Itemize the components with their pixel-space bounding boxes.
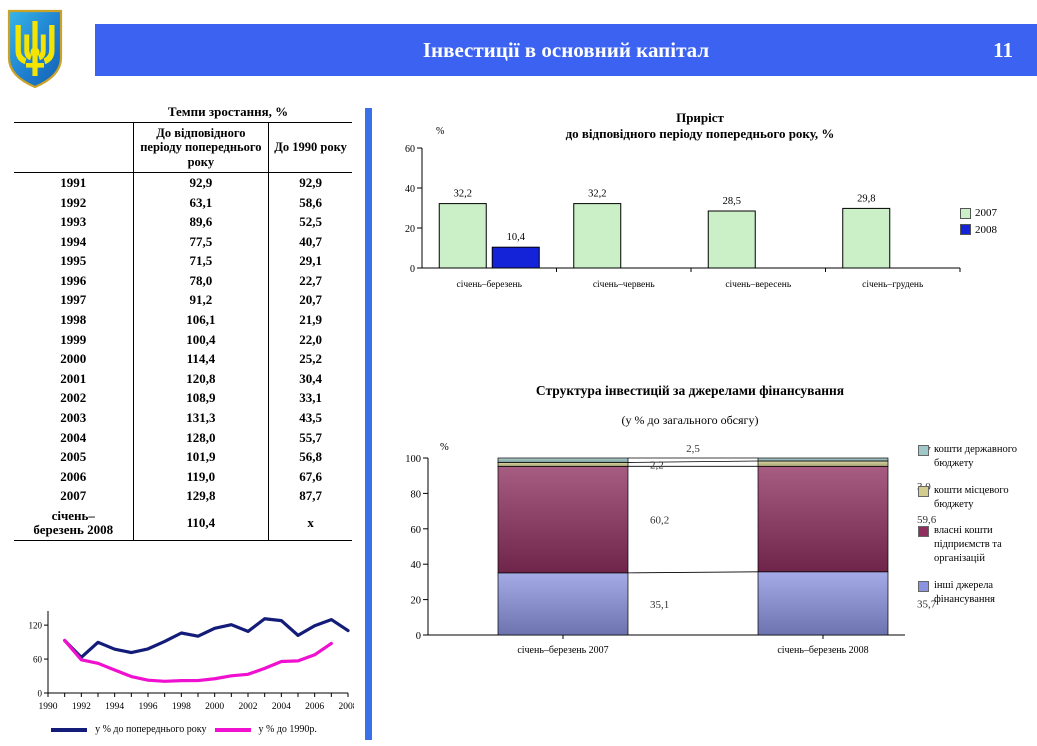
table-row: 2000114,425,2 — [14, 349, 352, 369]
table-row: 199678,022,7 — [14, 271, 352, 291]
svg-text:%: % — [436, 126, 444, 137]
table-row: 2001120,830,4 — [14, 369, 352, 389]
slide-title-bar: Інвестиції в основний капітал 11 — [95, 24, 1037, 76]
svg-text:січень–березень: січень–березень — [457, 279, 523, 290]
table-cell-prev-year: 63,1 — [133, 193, 269, 213]
legend-swatch-1 — [918, 486, 929, 497]
table-row: січень–березень 2008110,4x — [14, 506, 352, 540]
svg-text:1994: 1994 — [105, 702, 124, 712]
svg-text:січень–червень: січень–червень — [593, 280, 655, 290]
svg-text:2008: 2008 — [339, 702, 355, 712]
svg-text:1998: 1998 — [172, 702, 191, 712]
table-cell-since-1990: 22,7 — [269, 271, 352, 291]
svg-text:28,5: 28,5 — [723, 196, 741, 207]
legend-item-2007: 2007 — [960, 205, 997, 222]
svg-text:32,2: 32,2 — [588, 189, 606, 200]
svg-text:20: 20 — [405, 224, 415, 235]
svg-text:0: 0 — [416, 631, 421, 642]
table-cell-since-1990: 40,7 — [269, 232, 352, 252]
svg-text:100: 100 — [405, 454, 421, 465]
svg-text:%: % — [440, 442, 449, 453]
line-chart-legend: у % до попереднього року у % до 1990р. — [14, 724, 354, 735]
legend-label-1: кошти місцевого бюджету — [934, 484, 1037, 512]
legend-swatch-3 — [918, 581, 929, 592]
table-cell-prev-year: 110,4 — [133, 506, 269, 540]
table-cell-since-1990: 33,1 — [269, 389, 352, 409]
table-cell-year: січень–березень 2008 — [14, 506, 133, 540]
legend-swatch-since-1990 — [215, 728, 251, 732]
table-cell-since-1990: 58,6 — [269, 193, 352, 213]
table-row: 2007129,887,7 — [14, 487, 352, 507]
line-chart-svg: 0601201990199219941996199820002002200420… — [14, 605, 354, 723]
svg-text:20: 20 — [411, 596, 422, 607]
svg-text:40: 40 — [411, 560, 422, 571]
svg-text:40: 40 — [405, 184, 415, 195]
table-cell-since-1990: 25,2 — [269, 349, 352, 369]
bar-chart-legend: 2007 2008 — [960, 205, 997, 238]
legend-swatch-0 — [918, 445, 929, 456]
svg-text:120: 120 — [29, 621, 43, 631]
table-cell-year: 1994 — [14, 232, 133, 252]
structure-chart-subtitle: (у % до загального обсягу) — [430, 413, 950, 428]
table-cell-since-1990: 22,0 — [269, 330, 352, 350]
growth-table-panel: Темпи зростання, % До відповідного періо… — [14, 104, 352, 541]
panel-divider — [365, 108, 372, 740]
svg-text:35,1: 35,1 — [650, 599, 669, 611]
svg-text:січень–вересень: січень–вересень — [725, 280, 791, 290]
legend-label-2008: 2008 — [975, 222, 997, 239]
growth-table: До відповідного періоду попереднього рок… — [14, 122, 352, 540]
legend-item-2008: 2008 — [960, 222, 997, 239]
svg-text:0: 0 — [410, 264, 415, 275]
table-cell-prev-year: 114,4 — [133, 349, 269, 369]
table-cell-since-1990: x — [269, 506, 352, 540]
svg-text:2000: 2000 — [205, 702, 224, 712]
ukrainian-coat-of-arms — [6, 8, 64, 90]
svg-text:1996: 1996 — [139, 702, 158, 712]
table-cell-prev-year: 91,2 — [133, 291, 269, 311]
table-cell-year: 2005 — [14, 447, 133, 467]
table-cell-year: 1993 — [14, 212, 133, 232]
growth-table-body: 199192,992,9199263,158,6199389,652,51994… — [14, 173, 352, 541]
table-cell-prev-year: 129,8 — [133, 487, 269, 507]
legend-label-prev-year: у % до попереднього року — [95, 724, 206, 735]
svg-text:2,2: 2,2 — [650, 459, 664, 471]
table-cell-since-1990: 30,4 — [269, 369, 352, 389]
svg-text:1992: 1992 — [72, 702, 91, 712]
table-cell-year: 2006 — [14, 467, 133, 487]
svg-text:32,2: 32,2 — [454, 189, 472, 200]
table-cell-prev-year: 108,9 — [133, 389, 269, 409]
legend-swatch-prev-year — [51, 728, 87, 732]
svg-text:60: 60 — [405, 144, 415, 155]
svg-text:10,4: 10,4 — [507, 232, 526, 243]
table-cell-year: 1995 — [14, 252, 133, 272]
bar-chart-svg: 0204060%січень–березень32,210,4січень–че… — [380, 108, 1037, 298]
table-cell-prev-year: 89,6 — [133, 212, 269, 232]
table-cell-since-1990: 20,7 — [269, 291, 352, 311]
table-cell-since-1990: 87,7 — [269, 487, 352, 507]
table-row: 1998106,121,9 — [14, 310, 352, 330]
table-cell-prev-year: 71,5 — [133, 252, 269, 272]
table-cell-prev-year: 128,0 — [133, 428, 269, 448]
legend-label-2007: 2007 — [975, 205, 997, 222]
legend-swatch-2008 — [960, 224, 971, 235]
svg-text:1990: 1990 — [39, 702, 58, 712]
table-row: 199263,158,6 — [14, 193, 352, 213]
table-cell-prev-year: 92,9 — [133, 173, 269, 193]
legend-label-0: кошти державного бюджету — [934, 443, 1037, 471]
table-cell-prev-year: 101,9 — [133, 447, 269, 467]
table-cell-prev-year: 120,8 — [133, 369, 269, 389]
coat-of-arms-icon — [6, 8, 64, 90]
growth-line-chart: 0601201990199219941996199820002002200420… — [14, 605, 354, 740]
svg-text:60: 60 — [33, 655, 43, 665]
table-cell-prev-year: 100,4 — [133, 330, 269, 350]
table-row: 199192,992,9 — [14, 173, 352, 193]
table-row: 199389,652,5 — [14, 212, 352, 232]
table-cell-year: 2002 — [14, 389, 133, 409]
table-cell-year: 2003 — [14, 408, 133, 428]
svg-text:2002: 2002 — [239, 702, 258, 712]
legend-swatch-2 — [918, 526, 929, 537]
table-cell-prev-year: 131,3 — [133, 408, 269, 428]
legend-item-1: кошти місцевого бюджету — [918, 484, 1037, 512]
table-cell-since-1990: 43,5 — [269, 408, 352, 428]
table-bottom-rule — [14, 540, 352, 541]
svg-text:січень–березень 2008: січень–березень 2008 — [777, 645, 868, 656]
table-cell-prev-year: 78,0 — [133, 271, 269, 291]
table-cell-since-1990: 67,6 — [269, 467, 352, 487]
svg-text:2004: 2004 — [272, 702, 291, 712]
table-cell-since-1990: 56,8 — [269, 447, 352, 467]
stacked-chart-svg: 020406080100%січень–березень 2007січень–… — [380, 430, 940, 675]
table-cell-prev-year: 77,5 — [133, 232, 269, 252]
table-cell-year: 1999 — [14, 330, 133, 350]
legend-swatch-2007 — [960, 208, 971, 219]
table-header-blank — [14, 123, 133, 173]
structure-chart-legend: кошти державного бюджетукошти місцевого … — [918, 443, 1037, 620]
table-row: 199477,540,7 — [14, 232, 352, 252]
table-cell-year: 2007 — [14, 487, 133, 507]
svg-text:29,8: 29,8 — [857, 193, 875, 204]
table-cell-year: 1992 — [14, 193, 133, 213]
table-cell-since-1990: 21,9 — [269, 310, 352, 330]
legend-label-3: інші джерела фінансування — [934, 579, 1037, 607]
table-row: 2005101,956,8 — [14, 447, 352, 467]
table-cell-since-1990: 55,7 — [269, 428, 352, 448]
table-cell-year: 2001 — [14, 369, 133, 389]
table-cell-year: 1998 — [14, 310, 133, 330]
svg-text:2006: 2006 — [305, 702, 324, 712]
legend-item-2: власні кошти підприємств та організацій — [918, 524, 1037, 566]
table-cell-year: 1997 — [14, 291, 133, 311]
page-title: Інвестиції в основний капітал — [95, 24, 1037, 76]
table-header-since-1990: До 1990 року — [269, 123, 352, 173]
svg-text:0: 0 — [38, 689, 43, 699]
table-row: 2003131,343,5 — [14, 408, 352, 428]
table-cell-year: 1996 — [14, 271, 133, 291]
legend-item-0: кошти державного бюджету — [918, 443, 1037, 471]
growth-increase-bar-chart: 0204060%січень–березень32,210,4січень–че… — [380, 108, 1037, 298]
table-row: 2002108,933,1 — [14, 389, 352, 409]
svg-text:60,2: 60,2 — [650, 515, 669, 527]
table-row: 2004128,055,7 — [14, 428, 352, 448]
table-cell-since-1990: 29,1 — [269, 252, 352, 272]
table-cell-year: 1991 — [14, 173, 133, 193]
table-cell-prev-year: 119,0 — [133, 467, 269, 487]
legend-label-since-1990: у % до 1990р. — [259, 724, 317, 735]
table-row: 1999100,422,0 — [14, 330, 352, 350]
svg-text:80: 80 — [411, 489, 422, 500]
table-cell-since-1990: 52,5 — [269, 212, 352, 232]
table-row: 199571,529,1 — [14, 252, 352, 272]
svg-text:січень–березень 2007: січень–березень 2007 — [517, 645, 608, 656]
table-cell-since-1990: 92,9 — [269, 173, 352, 193]
table-cell-year: 2000 — [14, 349, 133, 369]
legend-item-3: інші джерела фінансування — [918, 579, 1037, 607]
structure-chart-title: Структура інвестицій за джерелами фінанс… — [430, 383, 950, 399]
page-number: 11 — [993, 24, 1013, 76]
svg-text:60: 60 — [411, 525, 422, 536]
svg-text:січень–грудень: січень–грудень — [862, 280, 924, 290]
growth-table-title: Темпи зростання, % — [104, 104, 352, 122]
table-cell-year: 2004 — [14, 428, 133, 448]
investment-structure-chart: 020406080100%січень–березень 2007січень–… — [380, 430, 940, 675]
legend-label-2: власні кошти підприємств та організацій — [934, 524, 1037, 566]
table-row: 2006119,067,6 — [14, 467, 352, 487]
svg-text:2,5: 2,5 — [686, 443, 700, 455]
table-row: 199791,220,7 — [14, 291, 352, 311]
table-header-prev-year: До відповідного періоду попереднього рок… — [133, 123, 269, 173]
table-cell-prev-year: 106,1 — [133, 310, 269, 330]
